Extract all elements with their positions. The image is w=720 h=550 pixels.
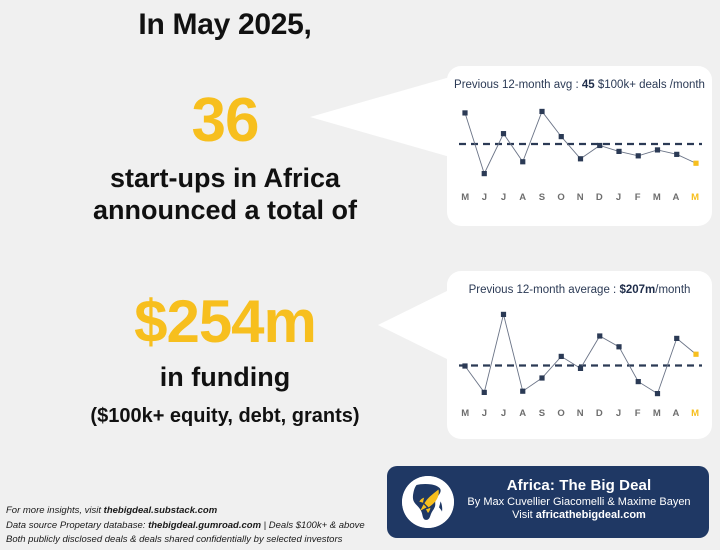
fineprint-line-0: For more insights, visit thebigdeal.subs… [6, 504, 365, 519]
data-point-12 [693, 352, 698, 357]
data-point-1 [482, 390, 487, 395]
data-point-5 [559, 134, 564, 139]
data-point-9 [636, 153, 641, 158]
deals-title-value: 45 [582, 79, 595, 91]
africa-rocket-icon [402, 476, 454, 528]
month-label-9: F [631, 408, 644, 419]
funding-note: ($100k+ equity, debt, grants) [0, 405, 450, 429]
month-label-7: D [593, 408, 606, 419]
data-point-8 [616, 344, 621, 349]
data-point-7 [597, 143, 602, 148]
data-point-6 [578, 156, 583, 161]
deals-title-prefix: Previous 12-month avg : [454, 79, 582, 91]
month-label-8: J [612, 192, 625, 203]
callout-tail-deals [310, 77, 450, 157]
data-point-3 [520, 159, 525, 164]
funding-title-value: $207m [619, 284, 655, 296]
brand-visit-prefix: Visit [512, 509, 536, 521]
data-point-4 [539, 375, 544, 380]
data-point-2 [501, 312, 506, 317]
data-point-6 [578, 366, 583, 371]
deals-caption: start-ups in Africaannounced a total of [0, 163, 450, 227]
data-point-11 [674, 152, 679, 157]
month-label-10: M [651, 408, 664, 419]
month-label-2: J [497, 408, 510, 419]
data-point-7 [597, 333, 602, 338]
funding-line-chart [459, 304, 702, 404]
deals-month-axis: MJJASONDJFMAM [459, 192, 702, 203]
funding-month-axis: MJJASONDJFMAM [459, 408, 702, 419]
data-point-0 [462, 110, 467, 115]
data-point-10 [655, 391, 660, 396]
month-label-5: O [555, 408, 568, 419]
data-point-10 [655, 147, 660, 152]
data-point-11 [674, 336, 679, 341]
fineprint-footer: For more insights, visit thebigdeal.subs… [6, 504, 365, 548]
deals-chart-title: Previous 12-month avg : 45 $100k+ deals … [447, 79, 712, 91]
data-point-5 [559, 354, 564, 359]
brand-website[interactable]: africathebigdeal.com [536, 509, 646, 521]
deals-title-suffix: $100k+ deals /month [595, 79, 705, 91]
fineprint-line-2: Both publicly disclosed deals & deals sh… [6, 533, 365, 548]
data-point-3 [520, 389, 525, 394]
data-point-0 [462, 363, 467, 368]
data-point-2 [501, 131, 506, 136]
funding-caption: in funding [0, 362, 450, 394]
month-label-4: S [536, 408, 549, 419]
month-label-11: A [670, 408, 683, 419]
data-point-9 [636, 379, 641, 384]
data-point-4 [539, 109, 544, 114]
brand-text-block: Africa: The Big Deal By Max Cuvellier Gi… [459, 477, 699, 521]
page-title: In May 2025, [0, 8, 450, 42]
deals-caption-line: announced a total of [0, 195, 450, 227]
month-label-1: J [478, 192, 491, 203]
data-point-12 [693, 161, 698, 166]
brand-authors: By Max Cuvellier Giacomelli & Maxime Bay… [459, 496, 699, 508]
funding-chart-title: Previous 12-month average : $207m/month [447, 284, 712, 296]
fineprint-line-1: Data source Propetary database: thebigde… [6, 519, 365, 534]
month-label-6: N [574, 408, 587, 419]
funding-title-prefix: Previous 12-month average : [469, 284, 620, 296]
month-label-5: O [555, 192, 568, 203]
data-point-1 [482, 171, 487, 176]
funding-title-suffix: /month [655, 284, 690, 296]
series-line [465, 111, 696, 173]
deals-chart-panel: Previous 12-month avg : 45 $100k+ deals … [447, 66, 712, 226]
month-label-9: F [631, 192, 644, 203]
month-label-1: J [478, 408, 491, 419]
month-label-10: M [651, 192, 664, 203]
month-label-0: M [459, 192, 472, 203]
month-label-3: A [516, 408, 529, 419]
month-label-7: D [593, 192, 606, 203]
month-label-12: M [689, 192, 702, 203]
month-label-11: A [670, 192, 683, 203]
deals-caption-line: start-ups in Africa [0, 163, 450, 195]
month-label-3: A [516, 192, 529, 203]
funding-chart-panel: Previous 12-month average : $207m/month … [447, 271, 712, 439]
infographic-canvas: In May 2025, 36 start-ups in Africaannou… [0, 0, 720, 550]
month-label-0: M [459, 408, 472, 419]
month-label-12: M [689, 408, 702, 419]
series-line [465, 314, 696, 393]
month-label-2: J [497, 192, 510, 203]
month-label-4: S [536, 192, 549, 203]
month-label-6: N [574, 192, 587, 203]
deals-line-chart [459, 99, 702, 189]
brand-title: Africa: The Big Deal [459, 477, 699, 494]
brand-visit-line: Visit africathebigdeal.com [459, 509, 699, 521]
month-label-8: J [612, 408, 625, 419]
brand-badge[interactable]: Africa: The Big Deal By Max Cuvellier Gi… [387, 466, 709, 538]
data-point-8 [616, 149, 621, 154]
callout-tail-funding [378, 288, 453, 362]
